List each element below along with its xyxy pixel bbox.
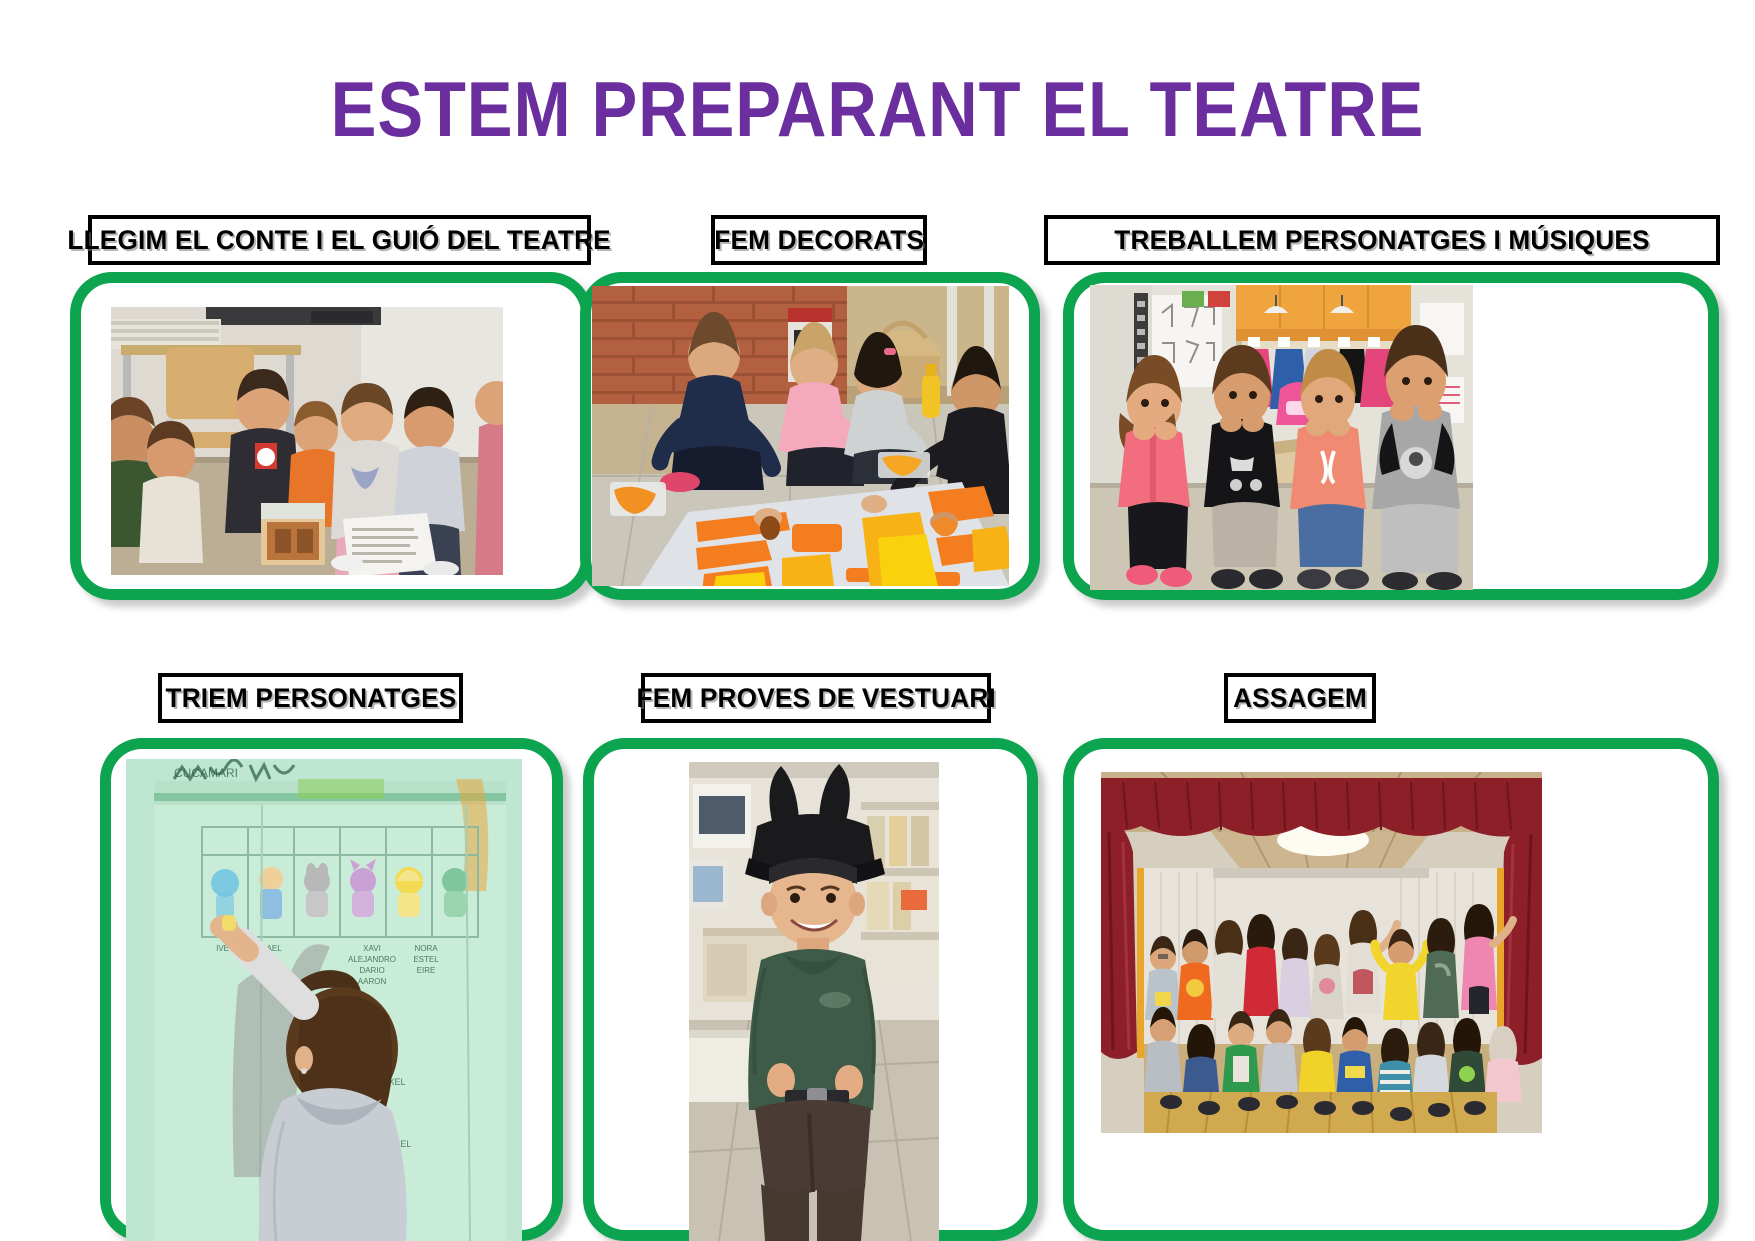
photo-children-reading-story-on-floor xyxy=(111,307,503,575)
caption-box-treballem-personatges: TREBALLEM PERSONATGES I MÚSIQUES xyxy=(1044,215,1720,265)
caption-box-llegim-el-conte: LLEGIM EL CONTE I EL GUIÓ DEL TEATRE xyxy=(88,215,591,265)
caption-box-assagem: ASSAGEM xyxy=(1224,673,1376,723)
caption-label: ASSAGEM xyxy=(1233,683,1367,714)
caption-label: FEM DECORATS xyxy=(714,225,924,256)
photo-girl-choosing-character-on-whiteboard: CUCAMARI IVET GAEL . XAVI xyxy=(126,759,522,1241)
caption-label: TRIEM PERSONATGES xyxy=(165,683,456,714)
svg-text:ESTEL: ESTEL xyxy=(413,955,439,964)
photo-boy-trying-costume-hat xyxy=(689,762,939,1241)
svg-text:EIRE: EIRE xyxy=(417,966,436,975)
caption-box-triem-personatges: TRIEM PERSONATGES xyxy=(158,673,463,723)
svg-text:ALEJANDRO: ALEJANDRO xyxy=(348,955,396,964)
caption-label: LLEGIM EL CONTE I EL GUIÓ DEL TEATRE xyxy=(68,225,611,256)
caption-box-fem-decorats: FEM DECORATS xyxy=(711,215,927,265)
caption-box-fem-proves-de-vestuari: FEM PROVES DE VESTUARI xyxy=(641,673,991,723)
caption-label: TREBALLEM PERSONATGES I MÚSIQUES xyxy=(1114,225,1649,256)
svg-text:AARON: AARON xyxy=(358,977,387,986)
caption-label: FEM PROVES DE VESTUARI xyxy=(636,683,995,714)
svg-text:XAVI: XAVI xyxy=(363,944,381,953)
page-title: ESTEM PREPARANT EL TEATRE xyxy=(105,70,1649,148)
photo-class-rehearsing-on-stage xyxy=(1101,772,1542,1133)
photo-children-painting-orange-backdrop xyxy=(592,286,1009,586)
svg-text:CUCAMARI: CUCAMARI xyxy=(174,766,238,780)
photo-children-acting-characters xyxy=(1090,285,1473,590)
svg-text:NORA: NORA xyxy=(414,944,438,953)
svg-text:DARIO: DARIO xyxy=(359,966,384,975)
